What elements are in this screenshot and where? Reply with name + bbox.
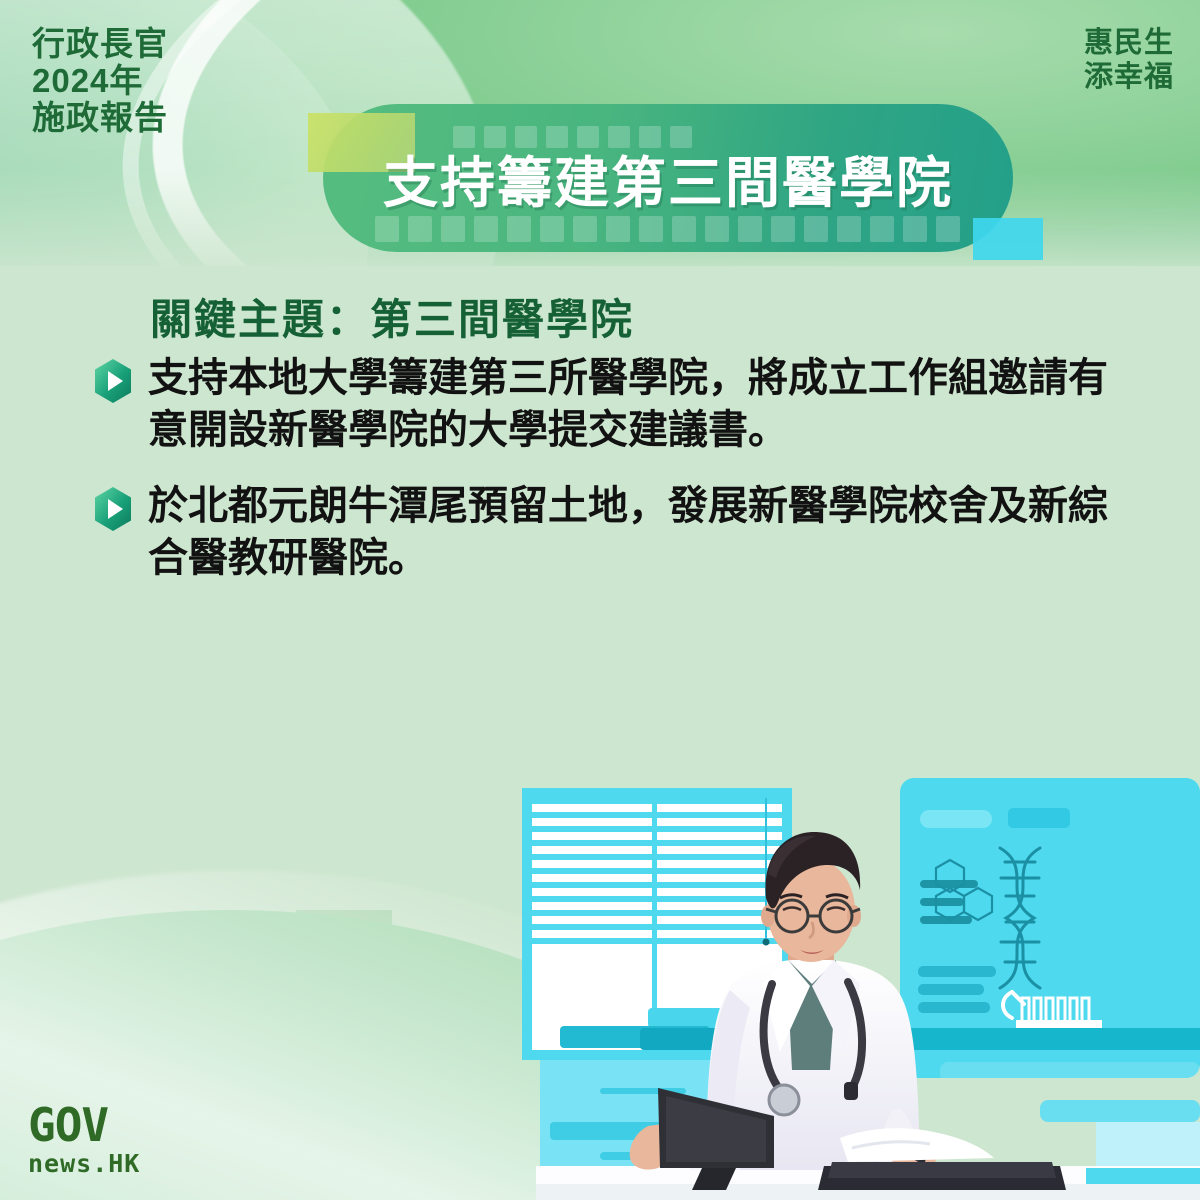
bullet-item: 支持本地大學籌建第三所醫學院，將成立工作組邀請有意開設新醫學院的大學提交建議書。 bbox=[92, 352, 1122, 456]
stethoscope-chestpiece bbox=[769, 1085, 799, 1115]
key-topic-subtitle: 關鍵主題：第三間醫學院 bbox=[150, 286, 634, 347]
slogan-line-1: 惠民生 bbox=[1084, 26, 1174, 60]
report-label-line-1: 行政長官 bbox=[32, 26, 168, 63]
clipboard-documents bbox=[818, 1128, 1066, 1190]
report-label-line-3: 施政報告 bbox=[32, 100, 168, 137]
banner-title: 支持籌建第三間醫學院 bbox=[323, 104, 1013, 252]
bullet-list: 支持本地大學籌建第三所醫學院，將成立工作組邀請有意開設新醫學院的大學提交建議書。 bbox=[92, 352, 1122, 608]
govnews-logo[interactable]: GOV news.HK bbox=[28, 1104, 140, 1178]
medical-info-panel bbox=[900, 778, 1200, 1082]
bullet-text: 支持本地大學籌建第三所醫學院，將成立工作組邀請有意開設新醫學院的大學提交建議書。 bbox=[148, 352, 1108, 456]
hexagon-play-icon bbox=[92, 358, 134, 404]
bullet-text: 於北都元朗牛潭尾預留土地，發展新醫學院校舍及新綜合醫教研醫院。 bbox=[148, 480, 1108, 584]
panel-strip-decor bbox=[1040, 1100, 1200, 1122]
doctor-at-desk-illustration bbox=[500, 770, 1200, 1200]
slogan-line-2: 添幸福 bbox=[1084, 60, 1174, 94]
hexagon-play-icon bbox=[92, 486, 134, 532]
poster-canvas: 行政長官 2024年 施政報告 惠民生 添幸福 bbox=[0, 0, 1200, 1200]
report-label: 行政長官 2024年 施政報告 bbox=[32, 26, 168, 137]
test-tube-rack-icon bbox=[1016, 998, 1102, 1028]
bullet-item: 於北都元朗牛潭尾預留土地，發展新醫學院校舍及新綜合醫教研醫院。 bbox=[92, 480, 1122, 584]
logo-secondary-text: news.HK bbox=[28, 1149, 140, 1178]
panel-strip-decor bbox=[1086, 1168, 1200, 1184]
report-label-line-2: 2024年 bbox=[32, 63, 168, 100]
banner-title-group: 支持籌建第三間醫學院 bbox=[323, 104, 1013, 252]
logo-primary-text: GOV bbox=[28, 1104, 140, 1148]
panel-strip-decor bbox=[1096, 1122, 1200, 1166]
slogan-label: 惠民生 添幸福 bbox=[1084, 26, 1174, 94]
